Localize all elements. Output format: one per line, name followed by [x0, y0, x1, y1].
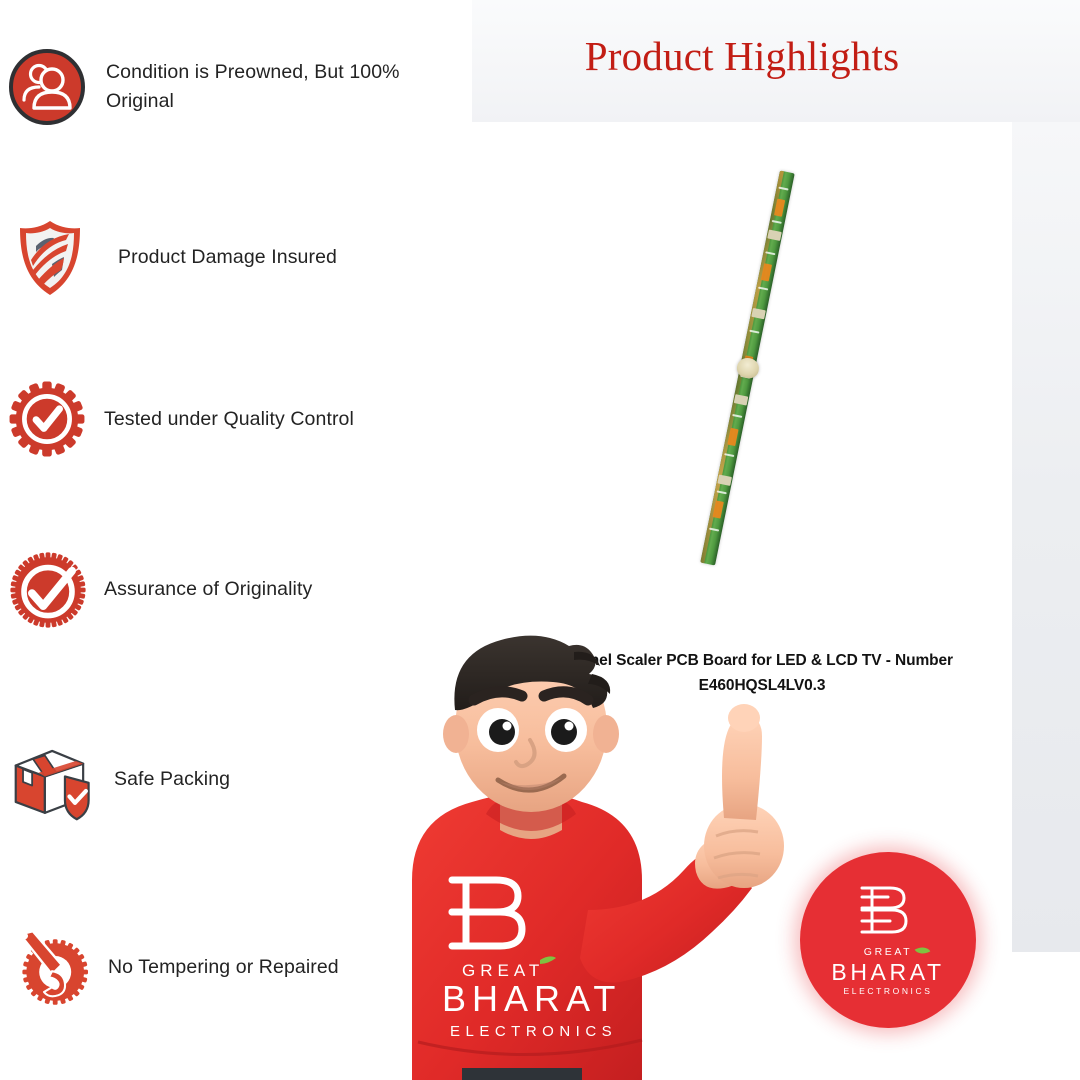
feature-item-originality: Assurance of Originality	[8, 550, 468, 628]
pcb-pad	[774, 199, 785, 217]
quality-badge-icon	[8, 380, 86, 458]
feature-label: No Tempering or Repaired	[108, 953, 339, 982]
right-side-panel	[1012, 122, 1080, 952]
wrench-gear-icon	[12, 928, 90, 1006]
shield-insured-icon	[14, 218, 92, 296]
svg-text:ELECTRONICS: ELECTRONICS	[450, 1023, 617, 1040]
feature-item-condition: Condition is Preowned, But 100% Original	[8, 48, 468, 126]
brand-bharat-text: BHARAT	[831, 959, 944, 985]
brand-great-text: GREAT	[864, 946, 912, 958]
box-shield-icon	[8, 740, 100, 818]
feature-label: Safe Packing	[114, 765, 230, 794]
originality-badge-icon	[8, 550, 86, 628]
feature-item-quality-control: Tested under Quality Control	[8, 380, 468, 458]
pcb-pad	[727, 428, 738, 446]
product-highlights-page: Product Highlights Pan	[0, 0, 1080, 1080]
brand-b-mark-icon	[858, 884, 918, 942]
svg-text:BHARAT: BHARAT	[442, 978, 621, 1019]
feature-label: Tested under Quality Control	[104, 405, 354, 434]
feature-label: Condition is Preowned, But 100% Original	[106, 58, 468, 116]
brand-electronics-text: ELECTRONICS	[843, 986, 932, 996]
mascot-character: GREAT BHARAT ELECTRONICS	[352, 618, 822, 1080]
users-circle-icon	[8, 48, 86, 126]
pcb-board-image	[676, 168, 826, 568]
feature-label: Product Damage Insured	[118, 243, 337, 272]
feature-item-damage-insured: Product Damage Insured	[8, 218, 468, 296]
pcb-pad	[713, 500, 724, 518]
leaf-icon	[915, 943, 931, 957]
pcb-pad	[761, 263, 772, 281]
feature-label: Assurance of Originality	[104, 575, 312, 604]
page-title: Product Highlights	[472, 32, 1012, 80]
brand-logo-badge: GREAT BHARAT ELECTRONICS	[800, 852, 976, 1028]
